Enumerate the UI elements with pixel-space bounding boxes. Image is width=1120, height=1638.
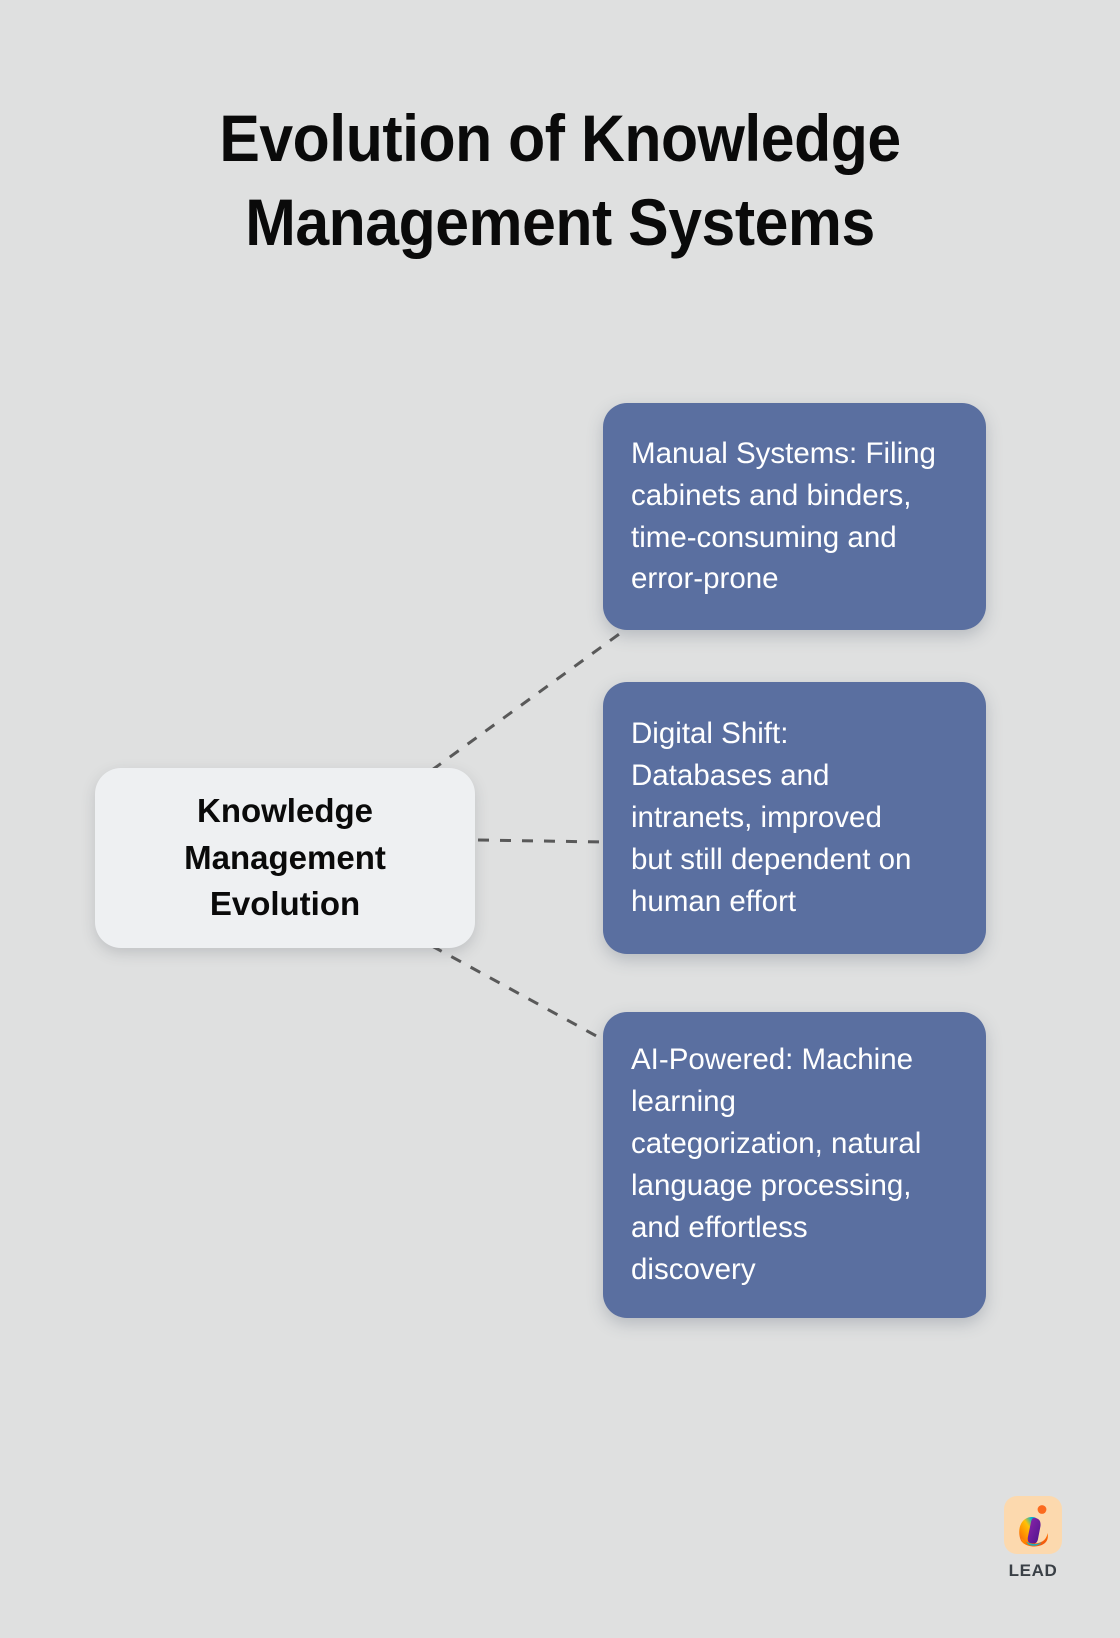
branch-node-label: Manual Systems: Filing cabinets and bind…	[603, 433, 964, 601]
branch-node-label: AI-Powered: Machine learning categorizat…	[603, 1039, 949, 1290]
lead-logo[interactable]: LEAD	[1002, 1496, 1064, 1581]
branch-node-ai-powered[interactable]: AI-Powered: Machine learning categorizat…	[603, 1012, 986, 1318]
center-node-label: Knowledge Management Evolution	[184, 788, 386, 929]
connector-line-1	[432, 632, 622, 770]
connector-line-2	[478, 840, 604, 842]
branch-node-manual-systems[interactable]: Manual Systems: Filing cabinets and bind…	[603, 403, 986, 630]
lead-logo-text: LEAD	[1009, 1561, 1058, 1581]
infographic-canvas: Evolution of Knowledge Management System…	[0, 0, 1120, 1638]
page-title: Evolution of Knowledge Management System…	[146, 96, 974, 265]
branch-node-label: Digital Shift: Databases and intranets, …	[603, 713, 939, 922]
logo-dot	[1038, 1505, 1047, 1514]
center-node[interactable]: Knowledge Management Evolution	[95, 768, 475, 948]
lead-logo-icon	[1004, 1496, 1062, 1554]
connector-line-3	[432, 946, 622, 1050]
branch-node-digital-shift[interactable]: Digital Shift: Databases and intranets, …	[603, 682, 986, 954]
